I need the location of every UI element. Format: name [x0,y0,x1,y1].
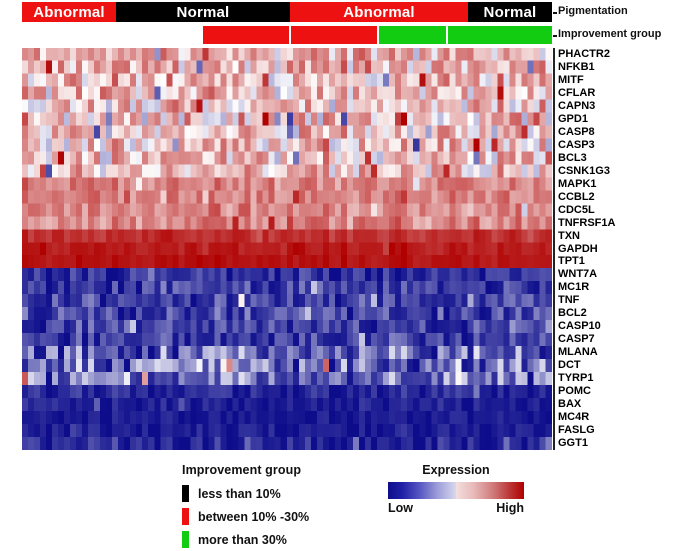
gene-row-label: GPD1 [558,114,588,125]
gene-row-label: MAPK1 [558,179,597,190]
expression-high-label: High [496,501,524,515]
gene-row-label: TNF [558,295,579,306]
gene-row-label: TPT1 [558,256,585,267]
expression-legend: Expression Low High [388,463,558,515]
legend-swatch [182,485,189,502]
gene-row-label: MLANA [558,347,598,358]
pigmentation-tick [553,12,557,14]
imp-bar-segment [22,26,203,44]
gene-row-label: CCBL2 [558,192,595,203]
imp-bar-segment [203,26,289,44]
legend-item-label: between 10% -30% [198,510,309,524]
improvement-group-label: Improvement group [558,28,661,40]
gene-row-label: CDC5L [558,205,595,216]
pig-bar-segment: Normal [468,2,552,22]
gene-row-label: TXN [558,231,580,242]
pig-bar-segment-label: Normal [177,4,230,21]
imp-bar-segment [379,26,446,44]
pig-bar-segment-label: Abnormal [33,4,105,21]
gene-row-label: WNT7A [558,269,597,280]
improvement-group-legend-title: Improvement group [182,463,372,477]
expression-low-label: Low [388,501,413,515]
gene-row-label: TYRP1 [558,373,593,384]
expression-colorbar-low-half [388,482,456,499]
legend-swatch [182,508,189,525]
legend-item: less than 10% [182,482,372,505]
gene-row-label: MC4R [558,412,589,423]
gene-row-label: BAX [558,399,581,410]
heatmap-canvas [22,48,552,450]
gene-row-label: CASP8 [558,127,595,138]
pig-bar-segment: Abnormal [290,2,468,22]
pig-bar-segment-label: Abnormal [343,4,415,21]
gene-label-axis: PHACTR2NFKB1MITFCFLARCAPN3GPD1CASP8CASP3… [558,48,683,450]
heatmap-figure: AbnormalNormalAbnormalNormal Pigmentatio… [0,0,683,547]
gene-row-label: BCL3 [558,153,587,164]
gene-row-label: FASLG [558,425,595,436]
expression-colorbar-high-half [456,482,524,499]
pig-bar-segment-label: Normal [484,4,537,21]
gene-row-label: CASP3 [558,140,595,151]
improvement-group-tick [553,35,557,37]
expression-legend-title: Expression [388,463,524,477]
gene-row-label: BCL2 [558,308,587,319]
gene-row-label: DCT [558,360,581,371]
gene-row-label: CFLAR [558,88,595,99]
pigmentation-label: Pigmentation [558,5,628,17]
legend-item: between 10% -30% [182,505,372,528]
imp-bar-segment [291,26,377,44]
gene-row-label: TNFRSF1A [558,218,615,229]
gene-row-label: CAPN3 [558,101,595,112]
gene-label-axis-line [553,48,555,450]
gene-row-label: CSNK1G3 [558,166,610,177]
gene-row-label: PHACTR2 [558,49,610,60]
gene-row-label: CASP10 [558,321,601,332]
pig-bar-segment: Abnormal [22,2,116,22]
expression-heatmap-matrix [22,48,552,450]
legend-item: more than 30% [182,528,372,551]
expression-colorbar [388,482,524,499]
legend-item-label: more than 30% [198,533,287,547]
gene-row-label: MC1R [558,282,589,293]
legend-item-label: less than 10% [198,487,281,501]
gene-row-label: GAPDH [558,244,598,255]
gene-row-label: CASP7 [558,334,595,345]
pig-bar-segment: Normal [116,2,290,22]
improvement-group-legend: Improvement group less than 10%between 1… [182,463,372,551]
expression-colorbar-endpoints: Low High [388,501,524,515]
legend-swatch [182,531,189,548]
gene-row-label: GGT1 [558,438,588,449]
gene-row-label: NFKB1 [558,62,595,73]
gene-row-label: MITF [558,75,584,86]
imp-bar-segment [448,26,552,44]
gene-row-label: POMC [558,386,591,397]
improvement-group-legend-items: less than 10%between 10% -30%more than 3… [182,482,372,551]
